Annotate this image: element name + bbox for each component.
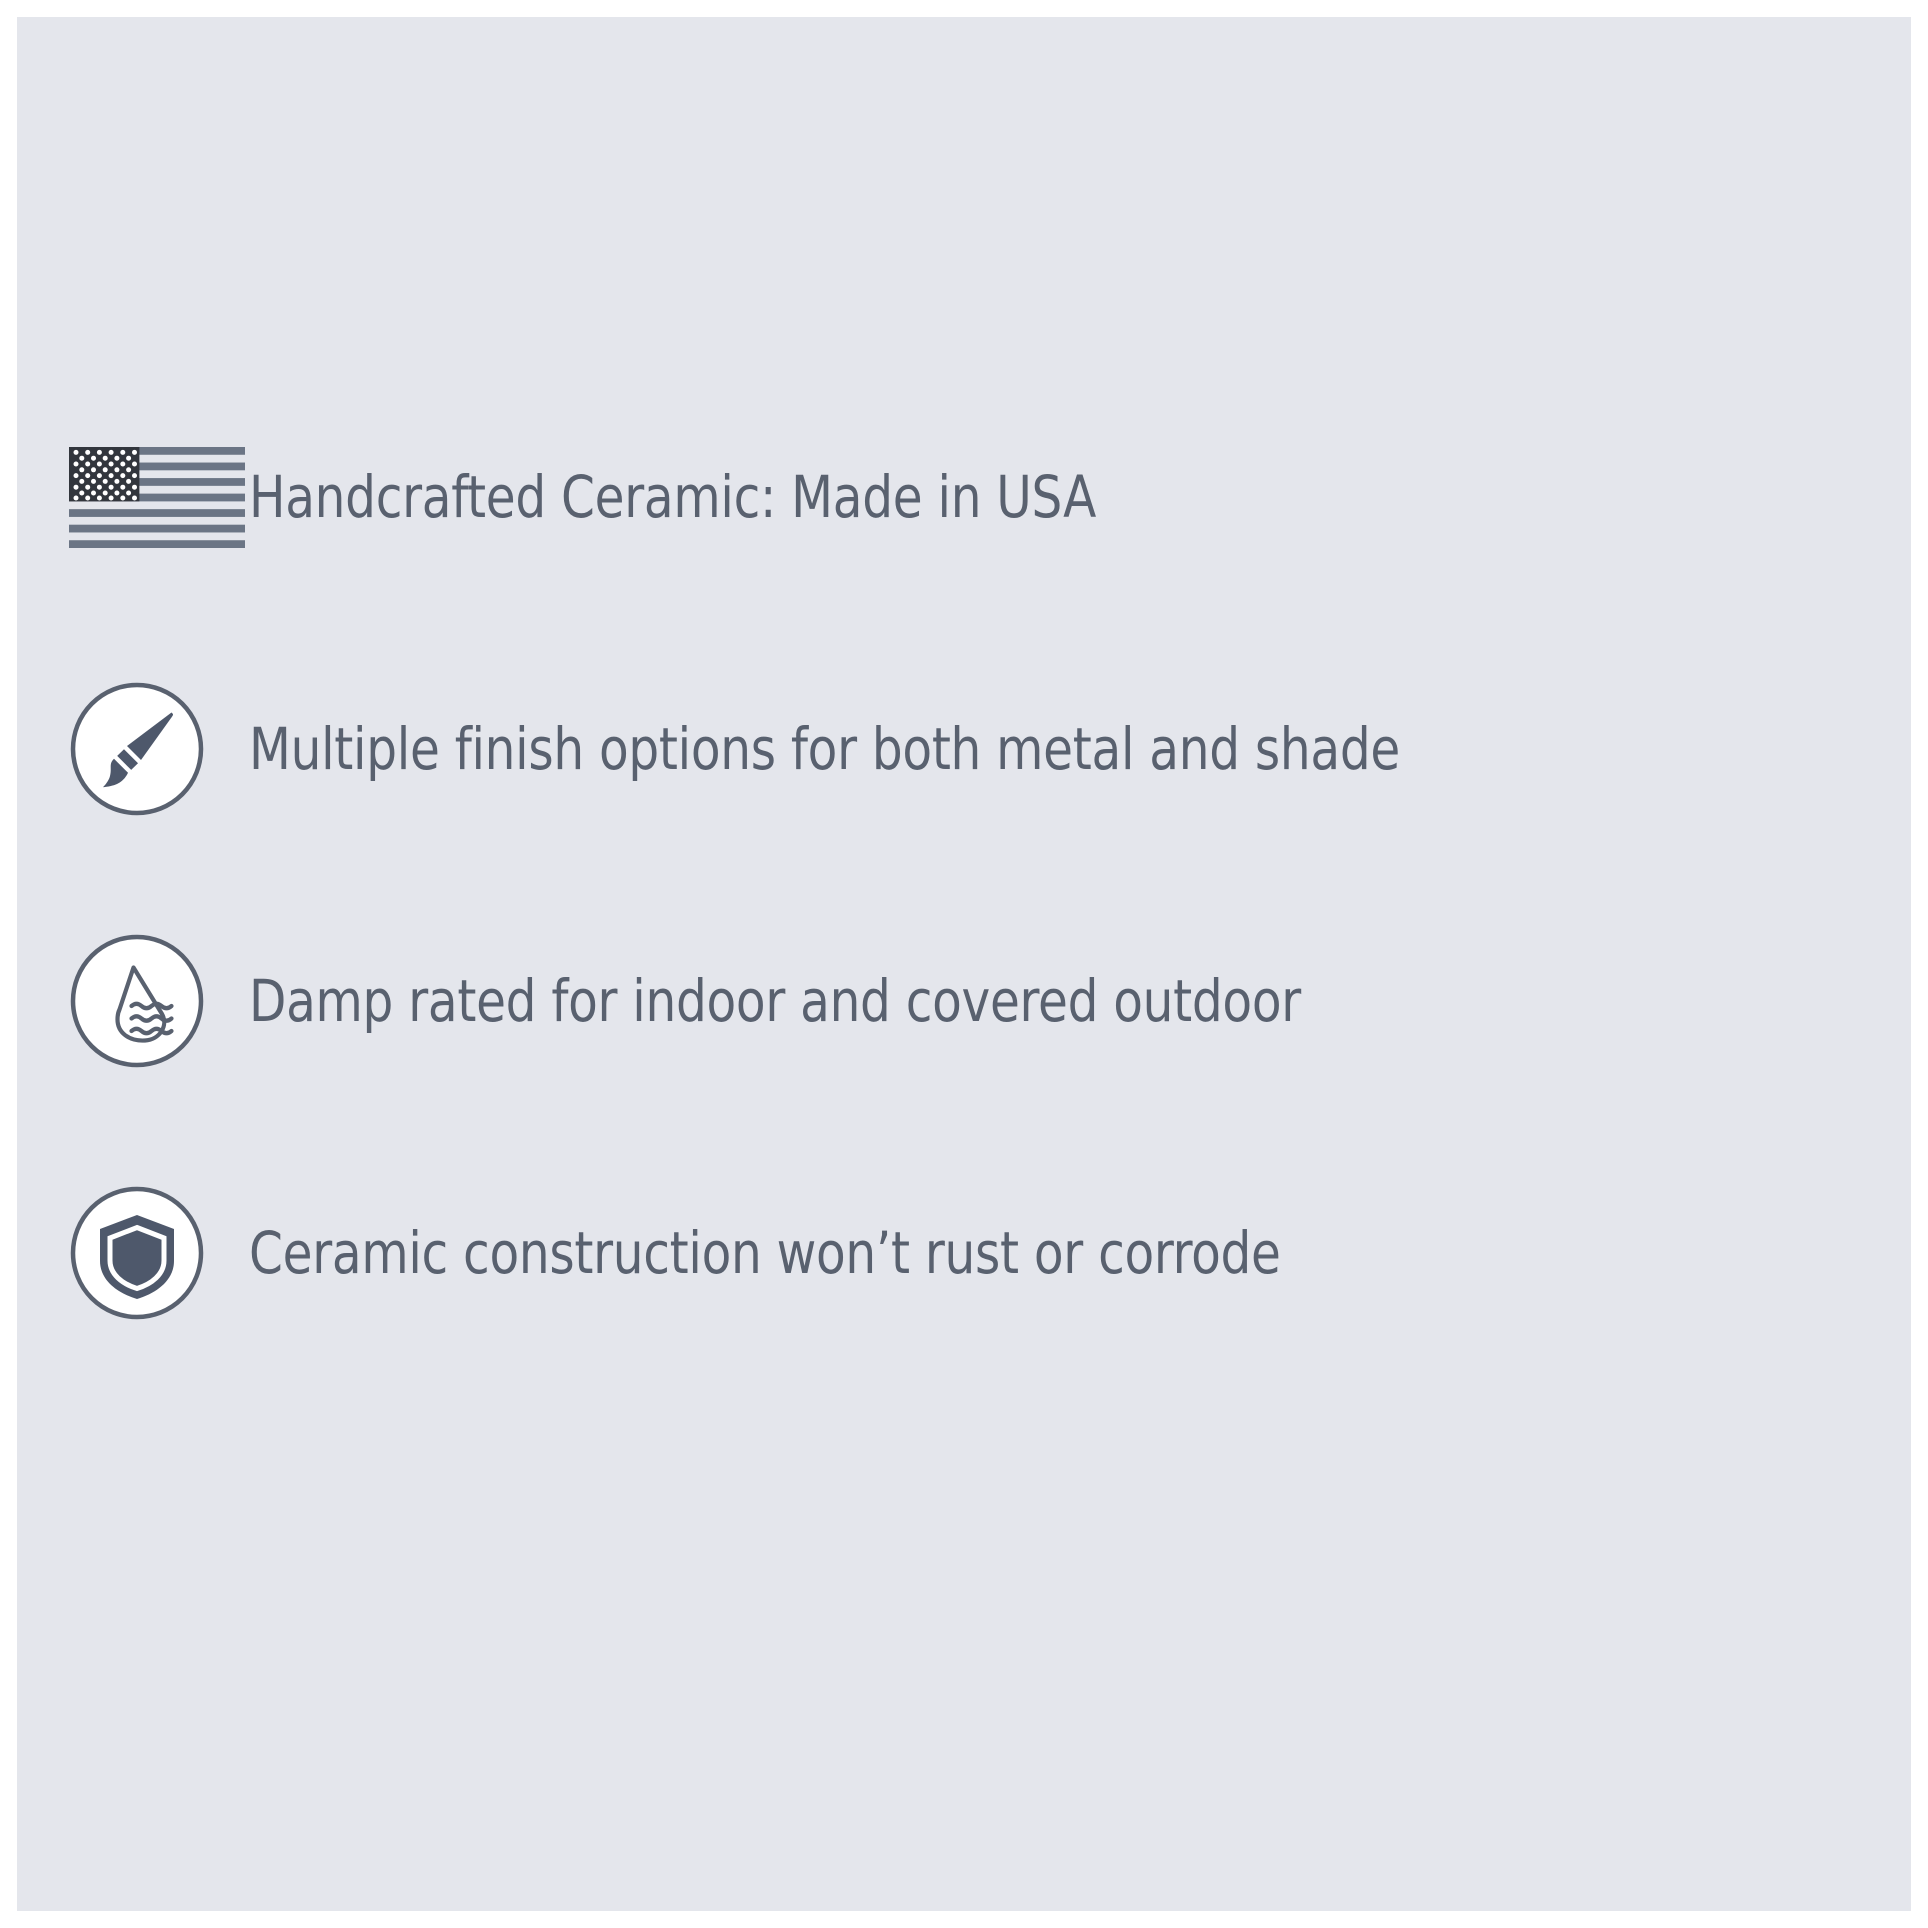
icon-slot [69,1173,249,1333]
icon-slot [69,417,249,577]
feature-label: Handcrafted Ceramic: Made in USA [249,468,1096,526]
feature-row: Multiple finish options for both metal a… [69,669,1869,829]
icon-slot [69,921,249,1081]
usa-flag-icon [69,447,245,548]
shield-icon [69,1185,205,1321]
feature-row: Ceramic construction won’t rust or corro… [69,1173,1869,1333]
icon-slot [69,669,249,829]
feature-label: Ceramic construction won’t rust or corro… [249,1224,1281,1282]
paintbrush-icon [69,681,205,817]
feature-label: Multiple finish options for both metal a… [249,720,1400,778]
feature-panel: Handcrafted Ceramic: Made in USA Multipl… [17,17,1911,1911]
feature-row: Damp rated for indoor and covered outdoo… [69,921,1869,1081]
water-droplet-icon [69,933,205,1069]
feature-label: Damp rated for indoor and covered outdoo… [249,972,1301,1030]
feature-row: Handcrafted Ceramic: Made in USA [69,417,1869,577]
feature-list: Handcrafted Ceramic: Made in USA Multipl… [17,17,1911,1911]
